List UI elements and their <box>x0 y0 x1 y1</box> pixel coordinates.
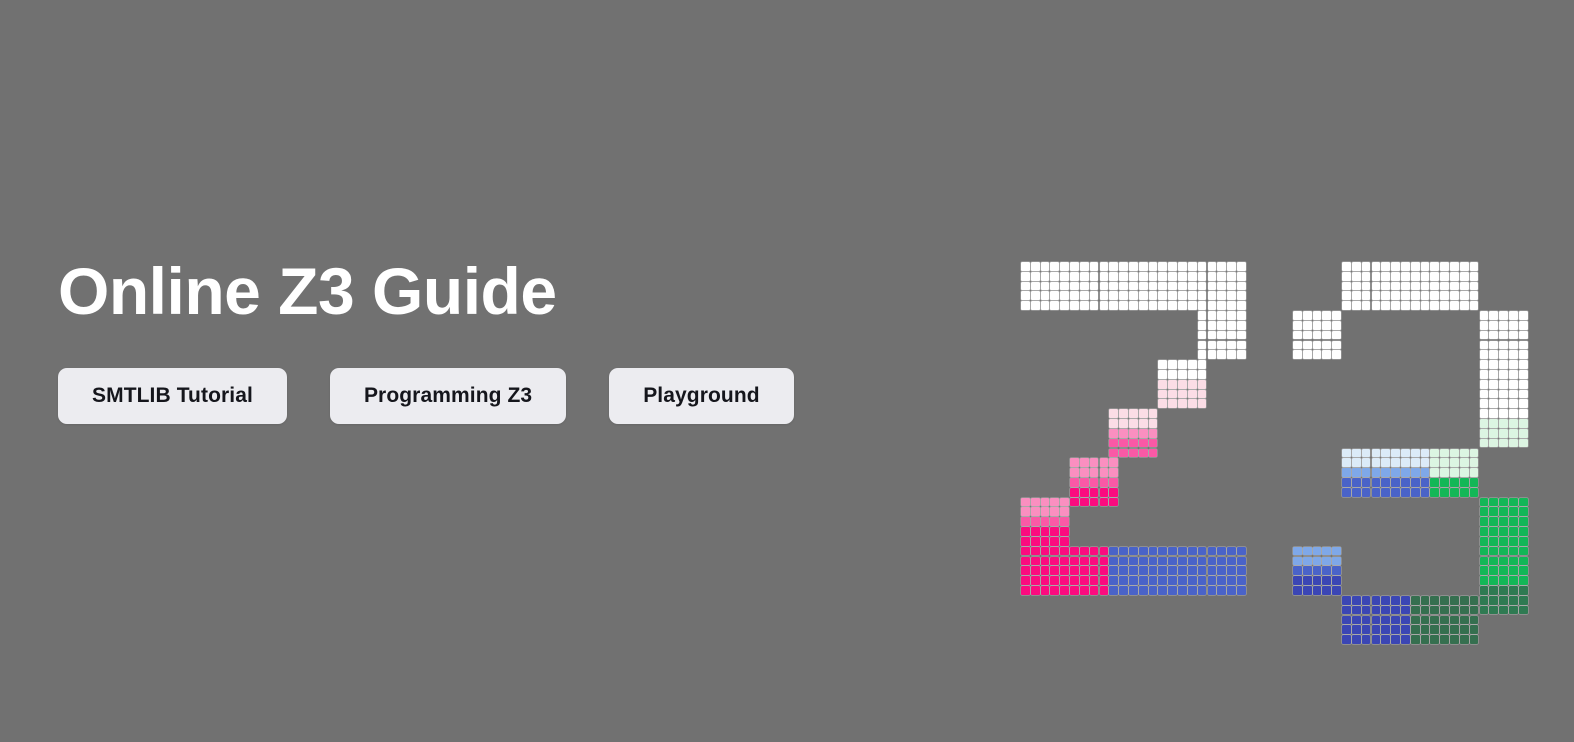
logo-cell <box>1129 566 1138 575</box>
logo-cell <box>1168 566 1177 575</box>
logo-cell <box>1100 478 1109 487</box>
logo-cell <box>1050 537 1059 546</box>
logo-block-7-stair-4 <box>1070 458 1119 507</box>
logo-cell <box>1168 547 1177 556</box>
logo-cell <box>1489 370 1498 379</box>
logo-cell <box>1041 301 1050 310</box>
logo-cell <box>1303 547 1312 556</box>
logo-cell <box>1168 301 1177 310</box>
logo-cell <box>1217 282 1226 291</box>
logo-cell <box>1188 282 1197 291</box>
logo-cell <box>1158 586 1167 595</box>
logo-cell <box>1489 537 1498 546</box>
logo-cell <box>1460 635 1469 644</box>
logo-cell <box>1509 547 1518 556</box>
logo-cell <box>1070 478 1079 487</box>
logo-cell <box>1313 350 1322 359</box>
logo-cell <box>1041 517 1050 526</box>
logo-cell <box>1303 311 1312 320</box>
logo-cell <box>1499 527 1508 536</box>
logo-cell <box>1139 291 1148 300</box>
logo-cell <box>1509 409 1518 418</box>
logo-cell <box>1322 557 1331 566</box>
logo-cell <box>1208 301 1217 310</box>
logo-cell <box>1411 616 1420 625</box>
logo-cell <box>1060 566 1069 575</box>
logo-cell <box>1237 341 1246 350</box>
logo-cell <box>1080 498 1089 507</box>
logo-block-7-stair-3 <box>1109 409 1158 458</box>
logo-cell <box>1237 321 1246 330</box>
logo-cell <box>1237 586 1246 595</box>
logo-cell <box>1381 301 1390 310</box>
logo-cell <box>1421 468 1430 477</box>
logo-cell <box>1401 262 1410 271</box>
logo-cell <box>1509 311 1518 320</box>
logo-cell <box>1100 576 1109 585</box>
logo-cell <box>1499 341 1508 350</box>
logo-cell <box>1362 449 1371 458</box>
logo-cell <box>1401 606 1410 615</box>
logo-cell <box>1480 537 1489 546</box>
logo-cell <box>1509 419 1518 428</box>
logo-cell <box>1198 557 1207 566</box>
logo-block-3-bottom-bar-green <box>1411 596 1480 645</box>
logo-cell <box>1480 596 1489 605</box>
logo-cell <box>1090 586 1099 595</box>
logo-cell <box>1489 331 1498 340</box>
logo-cell <box>1372 301 1381 310</box>
logo-block-7-stair-1 <box>1198 311 1247 360</box>
logo-cell <box>1381 458 1390 467</box>
logo-cell <box>1119 272 1128 281</box>
logo-cell <box>1509 331 1518 340</box>
logo-cell <box>1178 557 1187 566</box>
logo-cell <box>1372 488 1381 497</box>
logo-cell <box>1198 321 1207 330</box>
logo-cell <box>1227 282 1236 291</box>
logo-cell <box>1499 547 1508 556</box>
logo-cell <box>1470 272 1479 281</box>
logo-block-3-upper-right-fade <box>1480 399 1529 448</box>
logo-cell <box>1208 291 1217 300</box>
logo-cell <box>1090 576 1099 585</box>
logo-cell <box>1070 291 1079 300</box>
logo-cell <box>1060 547 1069 556</box>
logo-cell <box>1109 458 1118 467</box>
logo-cell <box>1109 576 1118 585</box>
logo-cell <box>1499 596 1508 605</box>
logo-cell <box>1080 291 1089 300</box>
logo-cell <box>1421 282 1430 291</box>
logo-cell <box>1342 596 1351 605</box>
logo-cell <box>1227 341 1236 350</box>
logo-cell <box>1139 566 1148 575</box>
logo-cell <box>1489 566 1498 575</box>
logo-cell <box>1470 478 1479 487</box>
logo-cell <box>1149 291 1158 300</box>
logo-cell <box>1381 478 1390 487</box>
logo-cell <box>1060 507 1069 516</box>
logo-cell <box>1217 566 1226 575</box>
logo-cell <box>1198 547 1207 556</box>
playground-button[interactable]: Playground <box>609 368 794 424</box>
logo-cell <box>1509 380 1518 389</box>
logo-cell <box>1421 449 1430 458</box>
logo-cell <box>1237 282 1246 291</box>
logo-cell <box>1178 576 1187 585</box>
logo-cell <box>1188 399 1197 408</box>
logo-cell <box>1480 576 1489 585</box>
logo-cell <box>1499 409 1508 418</box>
logo-cell <box>1208 350 1217 359</box>
logo-cell <box>1489 311 1498 320</box>
logo-cell <box>1021 507 1030 516</box>
logo-cell <box>1303 321 1312 330</box>
logo-cell <box>1450 616 1459 625</box>
logo-cell <box>1050 547 1059 556</box>
logo-cell <box>1509 507 1518 516</box>
logo-cell <box>1470 616 1479 625</box>
logo-cell <box>1489 507 1498 516</box>
logo-cell <box>1227 291 1236 300</box>
logo-cell <box>1158 390 1167 399</box>
logo-cell <box>1070 498 1079 507</box>
logo-cell <box>1430 272 1439 281</box>
logo-cell <box>1509 439 1518 448</box>
logo-cell <box>1208 331 1217 340</box>
logo-cell <box>1021 547 1030 556</box>
logo-cell <box>1129 282 1138 291</box>
logo-cell <box>1149 301 1158 310</box>
logo-cell <box>1519 596 1528 605</box>
logo-cell <box>1178 291 1187 300</box>
logo-cell <box>1401 488 1410 497</box>
logo-cell <box>1050 498 1059 507</box>
logo-cell <box>1031 301 1040 310</box>
logo-cell <box>1031 566 1040 575</box>
logo-cell <box>1499 576 1508 585</box>
logo-cell <box>1362 635 1371 644</box>
logo-cell <box>1519 390 1528 399</box>
logo-cell <box>1227 350 1236 359</box>
logo-cell <box>1421 458 1430 467</box>
logo-cell <box>1519 350 1528 359</box>
logo-cell <box>1499 498 1508 507</box>
logo-cell <box>1322 321 1331 330</box>
logo-cell <box>1119 282 1128 291</box>
logo-cell <box>1489 409 1498 418</box>
logo-cell <box>1509 537 1518 546</box>
logo-cell <box>1149 282 1158 291</box>
logo-cell <box>1198 399 1207 408</box>
logo-cell <box>1440 596 1449 605</box>
logo-cell <box>1178 399 1187 408</box>
logo-cell <box>1499 606 1508 615</box>
logo-cell <box>1119 439 1128 448</box>
logo-cell <box>1168 272 1177 281</box>
logo-cell <box>1430 468 1439 477</box>
logo-cell <box>1139 429 1148 438</box>
logo-cell <box>1460 291 1469 300</box>
logo-cell <box>1031 291 1040 300</box>
logo-cell <box>1401 596 1410 605</box>
logo-cell <box>1178 370 1187 379</box>
logo-cell <box>1100 301 1109 310</box>
logo-cell <box>1480 399 1489 408</box>
logo-cell <box>1158 360 1167 369</box>
logo-cell <box>1237 272 1246 281</box>
logo-cell <box>1421 596 1430 605</box>
logo-cell <box>1303 341 1312 350</box>
logo-cell <box>1060 272 1069 281</box>
logo-cell <box>1227 301 1236 310</box>
logo-cell <box>1421 291 1430 300</box>
logo-cell <box>1149 557 1158 566</box>
logo-cell <box>1070 458 1079 467</box>
logo-cell <box>1198 282 1207 291</box>
logo-cell <box>1031 576 1040 585</box>
logo-cell <box>1080 458 1089 467</box>
logo-cell <box>1411 282 1420 291</box>
logo-cell <box>1168 399 1177 408</box>
logo-cell <box>1100 291 1109 300</box>
logo-cell <box>1450 606 1459 615</box>
logo-cell <box>1060 301 1069 310</box>
logo-cell <box>1352 291 1361 300</box>
logo-cell <box>1090 262 1099 271</box>
logo-cell <box>1021 262 1030 271</box>
logo-cell <box>1480 321 1489 330</box>
logo-cell <box>1411 449 1420 458</box>
logo-cell <box>1430 262 1439 271</box>
logo-cell <box>1391 478 1400 487</box>
logo-cell <box>1470 291 1479 300</box>
logo-cell <box>1460 596 1469 605</box>
logo-cell <box>1499 439 1508 448</box>
logo-cell <box>1342 625 1351 634</box>
logo-cell <box>1489 360 1498 369</box>
logo-cell <box>1421 301 1430 310</box>
logo-cell <box>1080 272 1089 281</box>
logo-cell <box>1411 488 1420 497</box>
logo-cell <box>1401 468 1410 477</box>
logo-cell <box>1031 262 1040 271</box>
logo-cell <box>1391 262 1400 271</box>
logo-cell <box>1411 596 1420 605</box>
logo-cell <box>1119 566 1128 575</box>
logo-cell <box>1509 557 1518 566</box>
logo-block-3-mid-bar-green <box>1430 449 1479 498</box>
logo-cell <box>1070 576 1079 585</box>
logo-cell <box>1041 507 1050 516</box>
logo-cell <box>1313 557 1322 566</box>
logo-cell <box>1440 301 1449 310</box>
logo-cell <box>1119 576 1128 585</box>
logo-cell <box>1293 321 1302 330</box>
logo-cell <box>1519 439 1528 448</box>
logo-cell <box>1499 360 1508 369</box>
logo-cell <box>1450 635 1459 644</box>
logo-cell <box>1489 390 1498 399</box>
logo-cell <box>1100 468 1109 477</box>
logo-cell <box>1480 341 1489 350</box>
logo-cell <box>1470 282 1479 291</box>
logo-cell <box>1489 341 1498 350</box>
logo-cell <box>1342 458 1351 467</box>
programming-z3-button[interactable]: Programming Z3 <box>330 368 566 424</box>
logo-cell <box>1499 429 1508 438</box>
logo-cell <box>1489 557 1498 566</box>
logo-cell <box>1372 262 1381 271</box>
logo-cell <box>1430 606 1439 615</box>
logo-cell <box>1342 449 1351 458</box>
logo-cell <box>1460 272 1469 281</box>
logo-cell <box>1332 566 1341 575</box>
logo-cell <box>1430 635 1439 644</box>
logo-cell <box>1480 409 1489 418</box>
logo-cell <box>1480 557 1489 566</box>
logo-cell <box>1421 488 1430 497</box>
logo-cell <box>1421 625 1430 634</box>
logo-cell <box>1031 527 1040 536</box>
logo-cell <box>1208 321 1217 330</box>
logo-cell <box>1198 301 1207 310</box>
logo-cell <box>1322 547 1331 556</box>
logo-cell <box>1342 291 1351 300</box>
logo-cell <box>1362 616 1371 625</box>
logo-block-7-top-bar <box>1021 262 1247 311</box>
logo-cell <box>1237 262 1246 271</box>
logo-cell <box>1031 517 1040 526</box>
logo-cell <box>1460 282 1469 291</box>
logo-cell <box>1480 547 1489 556</box>
logo-cell <box>1381 262 1390 271</box>
logo-cell <box>1293 576 1302 585</box>
logo-cell <box>1332 321 1341 330</box>
logo-cell <box>1460 262 1469 271</box>
logo-cell <box>1440 468 1449 477</box>
logo-cell <box>1119 586 1128 595</box>
logo-cell <box>1480 370 1489 379</box>
logo-cell <box>1450 449 1459 458</box>
logo-cell <box>1332 576 1341 585</box>
logo-cell <box>1391 606 1400 615</box>
logo-cell <box>1158 547 1167 556</box>
logo-cell <box>1430 478 1439 487</box>
logo-cell <box>1470 458 1479 467</box>
logo-cell <box>1090 498 1099 507</box>
logo-cell <box>1050 282 1059 291</box>
logo-cell <box>1178 282 1187 291</box>
logo-cell <box>1391 301 1400 310</box>
logo-cell <box>1470 488 1479 497</box>
logo-cell <box>1168 291 1177 300</box>
logo-cell <box>1352 468 1361 477</box>
logo-cell <box>1293 586 1302 595</box>
logo-cell <box>1090 547 1099 556</box>
logo-cell <box>1139 282 1148 291</box>
logo-cell <box>1480 350 1489 359</box>
logo-cell <box>1188 557 1197 566</box>
logo-cell <box>1480 517 1489 526</box>
logo-cell <box>1060 498 1069 507</box>
logo-cell <box>1421 635 1430 644</box>
logo-cell <box>1519 341 1528 350</box>
logo-cell <box>1519 429 1528 438</box>
smtlib-tutorial-button[interactable]: SMTLIB Tutorial <box>58 368 287 424</box>
logo-cell <box>1421 616 1430 625</box>
logo-cell <box>1440 282 1449 291</box>
logo-cell <box>1129 557 1138 566</box>
logo-cell <box>1100 498 1109 507</box>
logo-cell <box>1119 262 1128 271</box>
logo-cell <box>1509 390 1518 399</box>
logo-cell <box>1158 262 1167 271</box>
logo-cell <box>1237 311 1246 320</box>
logo-cell <box>1050 586 1059 595</box>
logo-cell <box>1100 262 1109 271</box>
logo-cell <box>1227 547 1236 556</box>
logo-cell <box>1149 586 1158 595</box>
page-root: Online Z3 Guide SMTLIB Tutorial Programm… <box>0 0 1574 742</box>
logo-cell <box>1303 566 1312 575</box>
logo-cell <box>1381 282 1390 291</box>
logo-cell <box>1208 272 1217 281</box>
logo-cell <box>1489 399 1498 408</box>
logo-cell <box>1208 282 1217 291</box>
logo-cell <box>1227 272 1236 281</box>
logo-cell <box>1031 272 1040 281</box>
logo-cell <box>1109 429 1118 438</box>
logo-cell <box>1519 498 1528 507</box>
logo-cell <box>1080 576 1089 585</box>
logo-cell <box>1509 341 1518 350</box>
logo-cell <box>1109 272 1118 281</box>
logo-cell <box>1489 586 1498 595</box>
logo-cell <box>1237 557 1246 566</box>
logo-cell <box>1227 311 1236 320</box>
logo-cell <box>1050 291 1059 300</box>
logo-cell <box>1499 586 1508 595</box>
logo-cell <box>1188 370 1197 379</box>
logo-cell <box>1070 468 1079 477</box>
logo-cell <box>1480 331 1489 340</box>
logo-cell <box>1411 478 1420 487</box>
logo-cell <box>1342 488 1351 497</box>
logo-cell <box>1381 596 1390 605</box>
logo-cell <box>1168 360 1177 369</box>
logo-cell <box>1217 291 1226 300</box>
logo-cell <box>1149 419 1158 428</box>
logo-cell <box>1100 586 1109 595</box>
logo-cell <box>1489 527 1498 536</box>
logo-cell <box>1519 517 1528 526</box>
logo-cell <box>1217 301 1226 310</box>
logo-cell <box>1129 429 1138 438</box>
logo-cell <box>1489 517 1498 526</box>
logo-cell <box>1119 429 1128 438</box>
logo-cell <box>1372 272 1381 281</box>
logo-cell <box>1208 576 1217 585</box>
logo-cell <box>1352 616 1361 625</box>
logo-cell <box>1109 419 1118 428</box>
logo-cell <box>1489 606 1498 615</box>
logo-cell <box>1332 586 1341 595</box>
logo-cell <box>1509 566 1518 575</box>
logo-cell <box>1519 537 1528 546</box>
logo-cell <box>1372 458 1381 467</box>
